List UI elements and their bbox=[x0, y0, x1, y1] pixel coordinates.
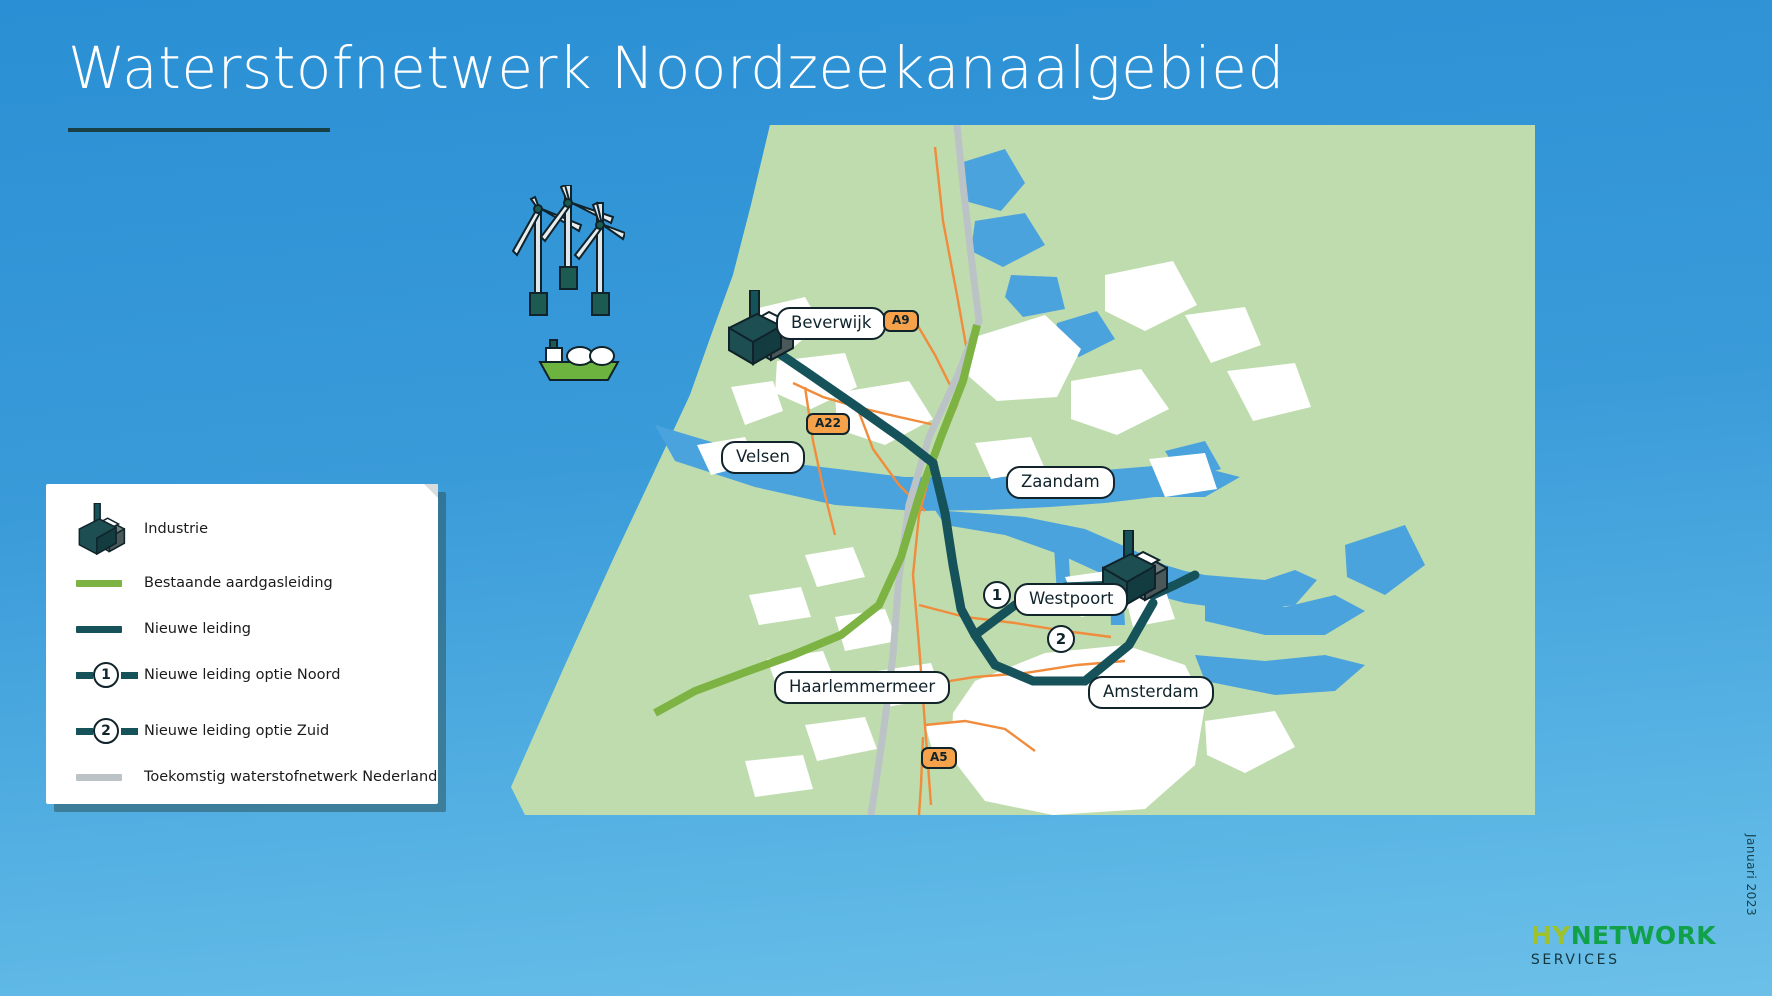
teal-line-swatch bbox=[76, 626, 144, 633]
road-badge-a22[interactable]: A22 bbox=[806, 413, 850, 435]
hydrogen-carrier-ship-icon bbox=[536, 332, 626, 388]
publication-date: Januari 2023 bbox=[1744, 834, 1758, 916]
map-label-westpoort[interactable]: Westpoort bbox=[1014, 583, 1128, 616]
legend-label-optie-zuid: Nieuwe leiding optie Zuid bbox=[144, 723, 329, 739]
infographic-canvas: Waterstofnetwerk Noordzeekanaalgebied bbox=[0, 0, 1772, 996]
logo-network: NETWORK bbox=[1571, 921, 1716, 950]
logo-services: SERVICES bbox=[1531, 952, 1716, 968]
legend-label-nieuwe-leiding: Nieuwe leiding bbox=[144, 621, 251, 637]
legend-badge-2: 2 bbox=[93, 718, 119, 744]
legend-label-optie-noord: Nieuwe leiding optie Noord bbox=[144, 667, 340, 683]
map-label-zaandam[interactable]: Zaandam bbox=[1006, 466, 1115, 499]
legend-label-toekomstig-netwerk: Toekomstig waterstofnetwerk Nederland bbox=[144, 769, 437, 785]
industry-icon bbox=[76, 503, 144, 555]
map-label-haarlemmermeer[interactable]: Haarlemmermeer bbox=[774, 671, 950, 704]
legend-item-nieuwe-leiding[interactable]: Nieuwe leiding bbox=[76, 606, 251, 652]
route-marker-1[interactable]: 1 bbox=[983, 581, 1011, 609]
legend-item-industrie[interactable]: Industrie bbox=[76, 506, 208, 552]
map-label-beverwijk[interactable]: Beverwijk bbox=[776, 307, 886, 340]
map-label-amsterdam[interactable]: Amsterdam bbox=[1088, 676, 1214, 709]
legend-panel: Industrie Bestaande aardgasleiding Nieuw… bbox=[46, 484, 438, 804]
map-label-velsen[interactable]: Velsen bbox=[721, 441, 805, 474]
road-badge-a5[interactable]: A5 bbox=[921, 747, 957, 769]
title-underline bbox=[68, 128, 330, 132]
page-title: Waterstofnetwerk Noordzeekanaalgebied bbox=[68, 34, 1285, 102]
route-marker-2[interactable]: 2 bbox=[1047, 625, 1075, 653]
grey-line-swatch bbox=[76, 774, 144, 781]
logo-hy: HY bbox=[1531, 921, 1571, 950]
hynetwork-services-logo: HYNETWORK SERVICES bbox=[1531, 923, 1716, 968]
legend-item-bestaande-aardgasleiding[interactable]: Bestaande aardgasleiding bbox=[76, 560, 333, 606]
legend-item-optie-zuid[interactable]: 2 Nieuwe leiding optie Zuid bbox=[76, 708, 329, 754]
legend-item-toekomstig-netwerk[interactable]: Toekomstig waterstofnetwerk Nederland bbox=[76, 754, 437, 800]
option-noord-swatch: 1 bbox=[76, 662, 144, 688]
offshore-wind-farm bbox=[495, 185, 625, 345]
option-zuid-swatch: 2 bbox=[76, 718, 144, 744]
legend-label-bestaande-aardgasleiding: Bestaande aardgasleiding bbox=[144, 575, 333, 591]
legend-label-industrie: Industrie bbox=[144, 521, 208, 537]
legend-item-optie-noord[interactable]: 1 Nieuwe leiding optie Noord bbox=[76, 652, 340, 698]
road-badge-a9[interactable]: A9 bbox=[883, 310, 919, 332]
legend-badge-1: 1 bbox=[93, 662, 119, 688]
green-line-swatch bbox=[76, 580, 144, 587]
